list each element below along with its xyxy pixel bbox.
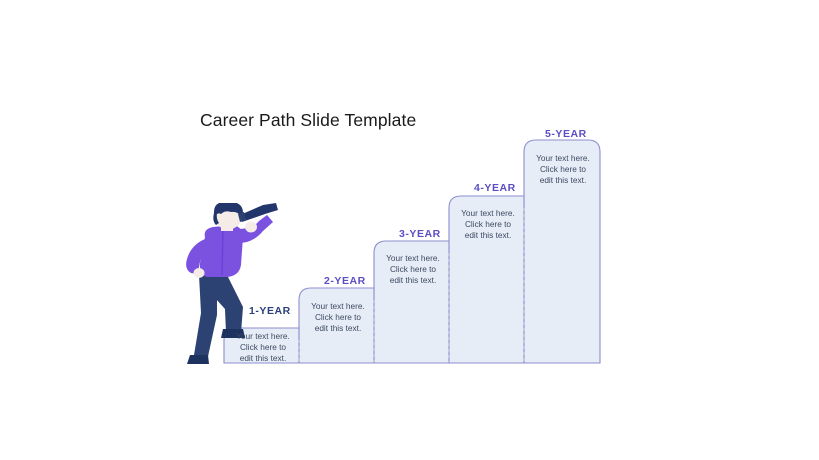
step-label-4-year: 4-YEAR [474, 182, 516, 194]
step-text-2-year[interactable]: Your text here. Click here to edit this … [305, 301, 371, 335]
step-text-3-year[interactable]: Your text here. Click here to edit this … [380, 253, 446, 287]
right-hand [245, 222, 257, 233]
step-text-1-year[interactable]: Your text here. Click here to edit this … [230, 331, 296, 365]
slide-canvas: Career Path Slide Template [0, 0, 819, 460]
step-text-5-year[interactable]: Your text here. Click here to edit this … [530, 153, 596, 187]
step-label-5-year: 5-YEAR [545, 128, 587, 140]
shirt-fold [222, 229, 223, 275]
page-title: Career Path Slide Template [200, 110, 416, 131]
step-label-3-year: 3-YEAR [399, 228, 441, 240]
step-label-2-year: 2-YEAR [324, 275, 366, 287]
back-foot [187, 355, 209, 364]
step-text-4-year[interactable]: Your text here. Click here to edit this … [455, 208, 521, 242]
left-hand [194, 268, 205, 278]
step-label-1-year: 1-YEAR [249, 305, 291, 317]
